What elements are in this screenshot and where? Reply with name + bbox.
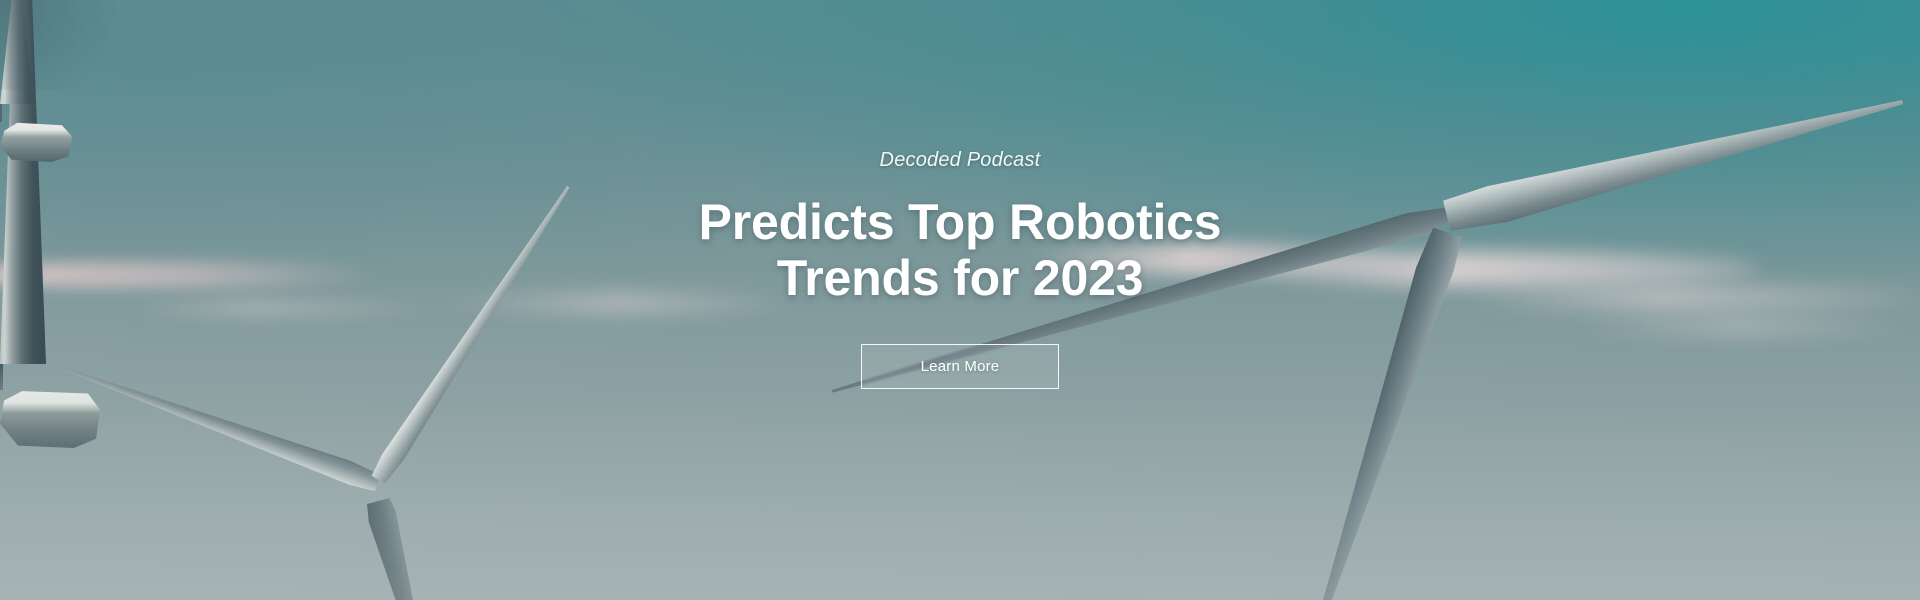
headline-line-2: Trends for 2023 [777, 250, 1144, 306]
hero-content: Decoded Podcast Predicts Top Robotics Tr… [0, 0, 1920, 600]
hero-headline: Predicts Top Robotics Trends for 2023 [699, 194, 1222, 306]
cta-container: Learn More [861, 344, 1059, 389]
headline-line-1: Predicts Top Robotics [699, 194, 1222, 250]
hero-banner: Decoded Podcast Predicts Top Robotics Tr… [0, 0, 1920, 600]
learn-more-button[interactable]: Learn More [861, 344, 1059, 389]
hero-eyebrow: Decoded Podcast [880, 148, 1041, 172]
